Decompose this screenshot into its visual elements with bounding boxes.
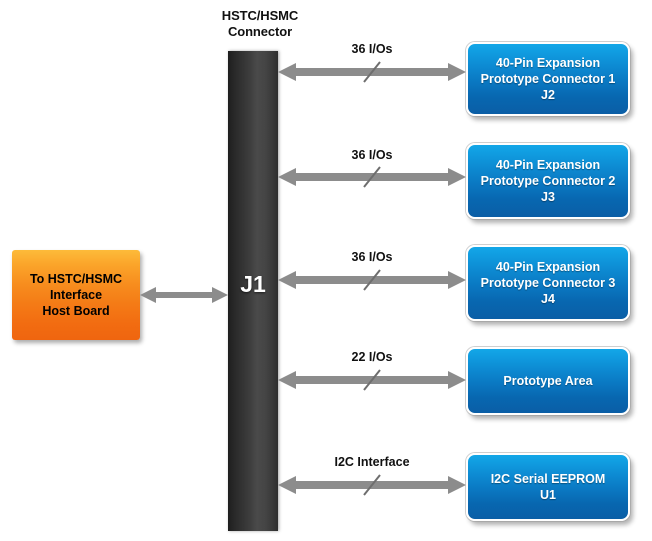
- expansion-connector-3-box: 40-Pin Expansion Prototype Connector 3 J…: [466, 245, 630, 321]
- bus-label-row-5: I2C Interface: [278, 455, 466, 469]
- prototype-area-line-1: Prototype Area: [503, 373, 592, 389]
- connector-title-line-2: Connector: [180, 24, 340, 40]
- expansion-connector-1-line-1: 40-Pin Expansion: [481, 55, 616, 71]
- expansion-connector-1-box: 40-Pin Expansion Prototype Connector 1 J…: [466, 42, 630, 116]
- bus-arrow-row-1: [278, 60, 466, 84]
- block-diagram-canvas: HSTC/HSMC Connector J1 To HSTC/HSMC Inte…: [0, 0, 652, 541]
- prototype-area-text: Prototype Area: [503, 373, 592, 389]
- i2c-eeprom-line-1: I2C Serial EEPROM: [491, 471, 606, 487]
- bus-label-row-1: 36 I/Os: [278, 42, 466, 56]
- i2c-eeprom-text: I2C Serial EEPROM U1: [491, 471, 606, 503]
- host-board-text: To HSTC/HSMC Interface Host Board: [30, 271, 122, 319]
- expansion-connector-3-line-3: J4: [481, 291, 616, 307]
- bus-arrow-row-2: [278, 165, 466, 189]
- host-board-line-3: Host Board: [30, 303, 122, 319]
- host-board-line-2: Interface: [30, 287, 122, 303]
- bus-arrow-row-3: [278, 268, 466, 292]
- bus-label-row-4: 22 I/Os: [278, 350, 466, 364]
- expansion-connector-1-text: 40-Pin Expansion Prototype Connector 1 J…: [481, 55, 616, 103]
- expansion-connector-2-line-3: J3: [481, 189, 616, 205]
- connector-bar-label: J1: [228, 271, 278, 298]
- bus-arrow-row-5: [278, 473, 466, 497]
- host-board-box: To HSTC/HSMC Interface Host Board: [12, 250, 140, 340]
- expansion-connector-2-line-1: 40-Pin Expansion: [481, 157, 616, 173]
- expansion-connector-2-text: 40-Pin Expansion Prototype Connector 2 J…: [481, 157, 616, 205]
- host-board-connection-arrow: [140, 283, 228, 307]
- bus-label-row-2: 36 I/Os: [278, 148, 466, 162]
- expansion-connector-1-line-3: J2: [481, 87, 616, 103]
- expansion-connector-1-line-2: Prototype Connector 1: [481, 71, 616, 87]
- expansion-connector-3-line-1: 40-Pin Expansion: [481, 259, 616, 275]
- expansion-connector-3-line-2: Prototype Connector 3: [481, 275, 616, 291]
- i2c-eeprom-box: I2C Serial EEPROM U1: [466, 453, 630, 521]
- expansion-connector-3-text: 40-Pin Expansion Prototype Connector 3 J…: [481, 259, 616, 307]
- connector-title-line-1: HSTC/HSMC: [180, 8, 340, 24]
- expansion-connector-2-line-2: Prototype Connector 2: [481, 173, 616, 189]
- bus-label-row-3: 36 I/Os: [278, 250, 466, 264]
- bus-arrow-row-4: [278, 368, 466, 392]
- prototype-area-box: Prototype Area: [466, 347, 630, 415]
- connector-title: HSTC/HSMC Connector: [180, 8, 340, 40]
- i2c-eeprom-line-2: U1: [491, 487, 606, 503]
- host-board-line-1: To HSTC/HSMC: [30, 271, 122, 287]
- expansion-connector-2-box: 40-Pin Expansion Prototype Connector 2 J…: [466, 143, 630, 219]
